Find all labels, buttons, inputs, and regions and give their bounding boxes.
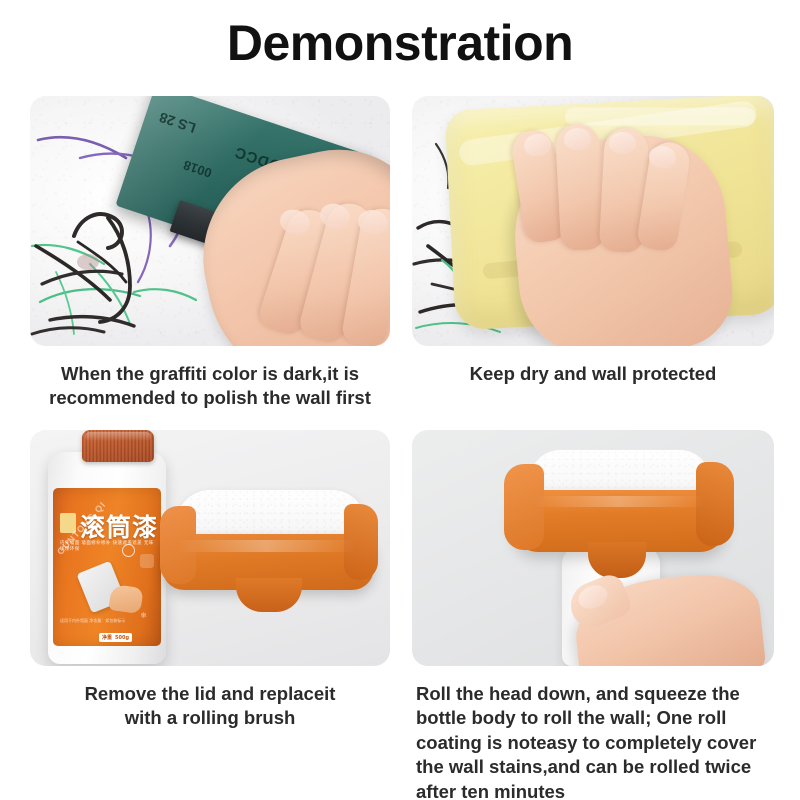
fingernail (608, 131, 636, 154)
label-footer: 适用于内外墙面 净含量：如包装标示 (60, 618, 125, 624)
step-3-photo: 滚筒漆 内外墙面 墙面修补修补 快速遮盖遮盖 无味环保环保 GUNTONG QI… (30, 430, 390, 666)
demo-step-4: Roll the head down, and squeeze the bott… (412, 430, 774, 800)
label-weight-value: 500g (115, 635, 129, 641)
bottle-cap (82, 430, 154, 462)
roller-neck (588, 542, 646, 578)
caption-line: Roll the head down, and squeeze the (416, 682, 774, 706)
roller-left-arm (504, 464, 544, 550)
step-1-photo: QETAODCC 0018 LS 28 NT 40 (30, 96, 390, 346)
demo-step-1: QETAODCC 0018 LS 28 NT 40 When the graff… (30, 96, 390, 411)
paint-bottle: 滚筒漆 内外墙面 墙面修补修补 快速遮盖遮盖 无味环保环保 GUNTONG QI… (48, 452, 166, 664)
bottle-cap-ridges (82, 430, 154, 462)
snowflake-icon: ❄ (140, 611, 147, 620)
step-2-photo (412, 96, 774, 346)
bottle-label: 滚筒漆 内外墙面 墙面修补修补 快速遮盖遮盖 无味环保环保 GUNTONG QI… (53, 488, 161, 646)
page-title: Demonstration (0, 14, 800, 72)
step-3-caption: Remove the lid and replaceit with a roll… (30, 682, 390, 731)
caption-line: bottle body to roll the wall; One roll (416, 706, 774, 730)
roller-brush (162, 490, 374, 630)
caption-line: recommended to polish the wall first (30, 386, 390, 410)
step-4-caption: Roll the head down, and squeeze the bott… (412, 682, 774, 800)
step-1-caption: When the graffiti color is dark,it is re… (30, 362, 390, 411)
caption-line: with a rolling brush (30, 706, 390, 730)
step-4-photo (412, 430, 774, 666)
demo-step-3: 滚筒漆 内外墙面 墙面修补修补 快速遮盖遮盖 无味环保环保 GUNTONG QI… (30, 430, 390, 731)
label-weight-tag: 净重 500g (99, 633, 132, 642)
caption-line: Remove the lid and replaceit (30, 682, 390, 706)
label-secondary-icon (140, 554, 154, 568)
label-illustration-hand (108, 584, 143, 614)
caption-line: When the graffiti color is dark,it is (30, 362, 390, 386)
roller-highlight (534, 496, 704, 507)
caption-line: after ten minutes (416, 780, 774, 800)
roller-highlight (176, 540, 356, 552)
caption-line: coating is noteasy to completely cover (416, 731, 774, 755)
roller-neck (236, 578, 302, 612)
demonstration-page: Demonstration (0, 0, 800, 800)
label-mark-icon (122, 544, 135, 557)
step-2-caption: Keep dry and wall protected (412, 362, 774, 386)
caption-line: Keep dry and wall protected (412, 362, 774, 386)
caption-line: the wall stains,and can be rolled twice (416, 755, 774, 779)
label-weight-caption: 净重 (102, 634, 112, 641)
demo-step-2: Keep dry and wall protected (412, 96, 774, 386)
